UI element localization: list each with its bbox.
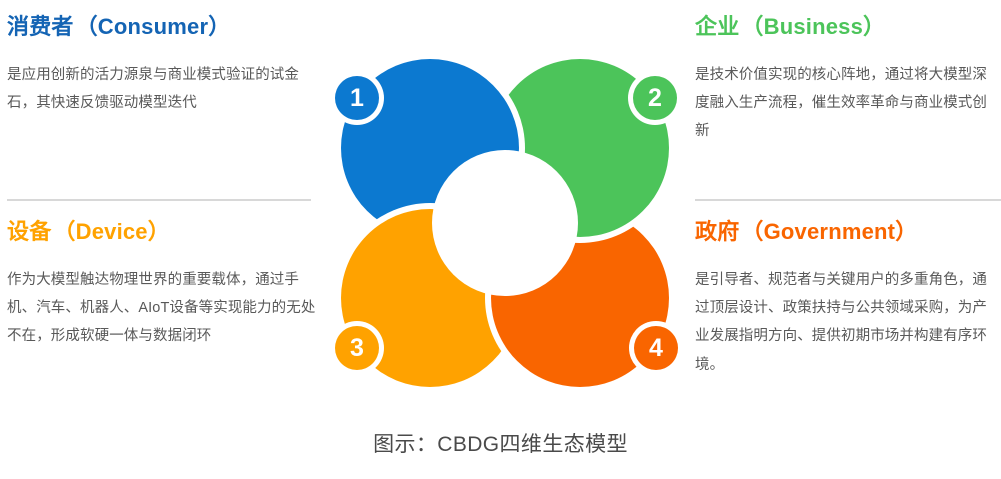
- consumer-title-cn: 消费者: [7, 14, 74, 39]
- badge-government-label: 4: [649, 334, 663, 362]
- device-title: 设备（Device）: [7, 219, 325, 246]
- government-description: 是引导者、规范者与关键用户的多重角色，通过顶层设计、政策扶持与公共领域采购，为产…: [695, 266, 1001, 379]
- quadrant-device: 设备（Device） 作为大模型触达物理世界的重要载体，通过手机、汽车、机器人、…: [7, 219, 325, 351]
- device-description: 作为大模型触达物理世界的重要载体，通过手机、汽车、机器人、AIoT设备等实现能力…: [7, 266, 325, 351]
- consumer-title: 消费者（Consumer）: [7, 14, 325, 41]
- government-title-en: （Government）: [741, 219, 917, 244]
- quadrant-consumer: 消费者（Consumer） 是应用创新的活力源泉与商业模式验证的试金石，其快速反…: [7, 14, 325, 117]
- figure-caption: 图示：CBDG四维生态模型: [0, 428, 1001, 458]
- badge-business-label: 2: [648, 84, 662, 112]
- divider-right: [695, 199, 1001, 201]
- device-title-en: （Device）: [53, 219, 170, 244]
- device-title-cn: 设备: [7, 219, 51, 244]
- consumer-title-en: （Consumer）: [76, 14, 231, 39]
- badge-consumer: 1: [330, 71, 384, 125]
- business-title-en: （Business）: [741, 14, 885, 39]
- government-title: 政府（Government）: [695, 219, 1001, 246]
- business-title: 企业（Business）: [695, 14, 1001, 41]
- badge-government: 4: [629, 321, 683, 375]
- badge-consumer-label: 1: [350, 84, 364, 112]
- quadrant-government: 政府（Government） 是引导者、规范者与关键用户的多重角色，通过顶层设计…: [695, 219, 1001, 379]
- badge-device-label: 3: [350, 334, 364, 362]
- badge-business: 2: [628, 71, 682, 125]
- consumer-description: 是应用创新的活力源泉与商业模式验证的试金石，其快速反馈驱动模型迭代: [7, 61, 325, 118]
- business-description: 是技术价值实现的核心阵地，通过将大模型深度融入生产流程，催生效率革命与商业模式创…: [695, 61, 1001, 146]
- pinwheel-diagram: 1 2 3 4: [318, 36, 692, 410]
- business-title-cn: 企业: [695, 14, 739, 39]
- badge-device: 3: [330, 321, 384, 375]
- government-title-cn: 政府: [695, 219, 739, 244]
- quadrant-business: 企业（Business） 是技术价值实现的核心阵地，通过将大模型深度融入生产流程…: [695, 14, 1001, 146]
- cbdg-ecosystem-figure: 消费者（Consumer） 是应用创新的活力源泉与商业模式验证的试金石，其快速反…: [0, 0, 1001, 479]
- divider-left: [7, 199, 311, 201]
